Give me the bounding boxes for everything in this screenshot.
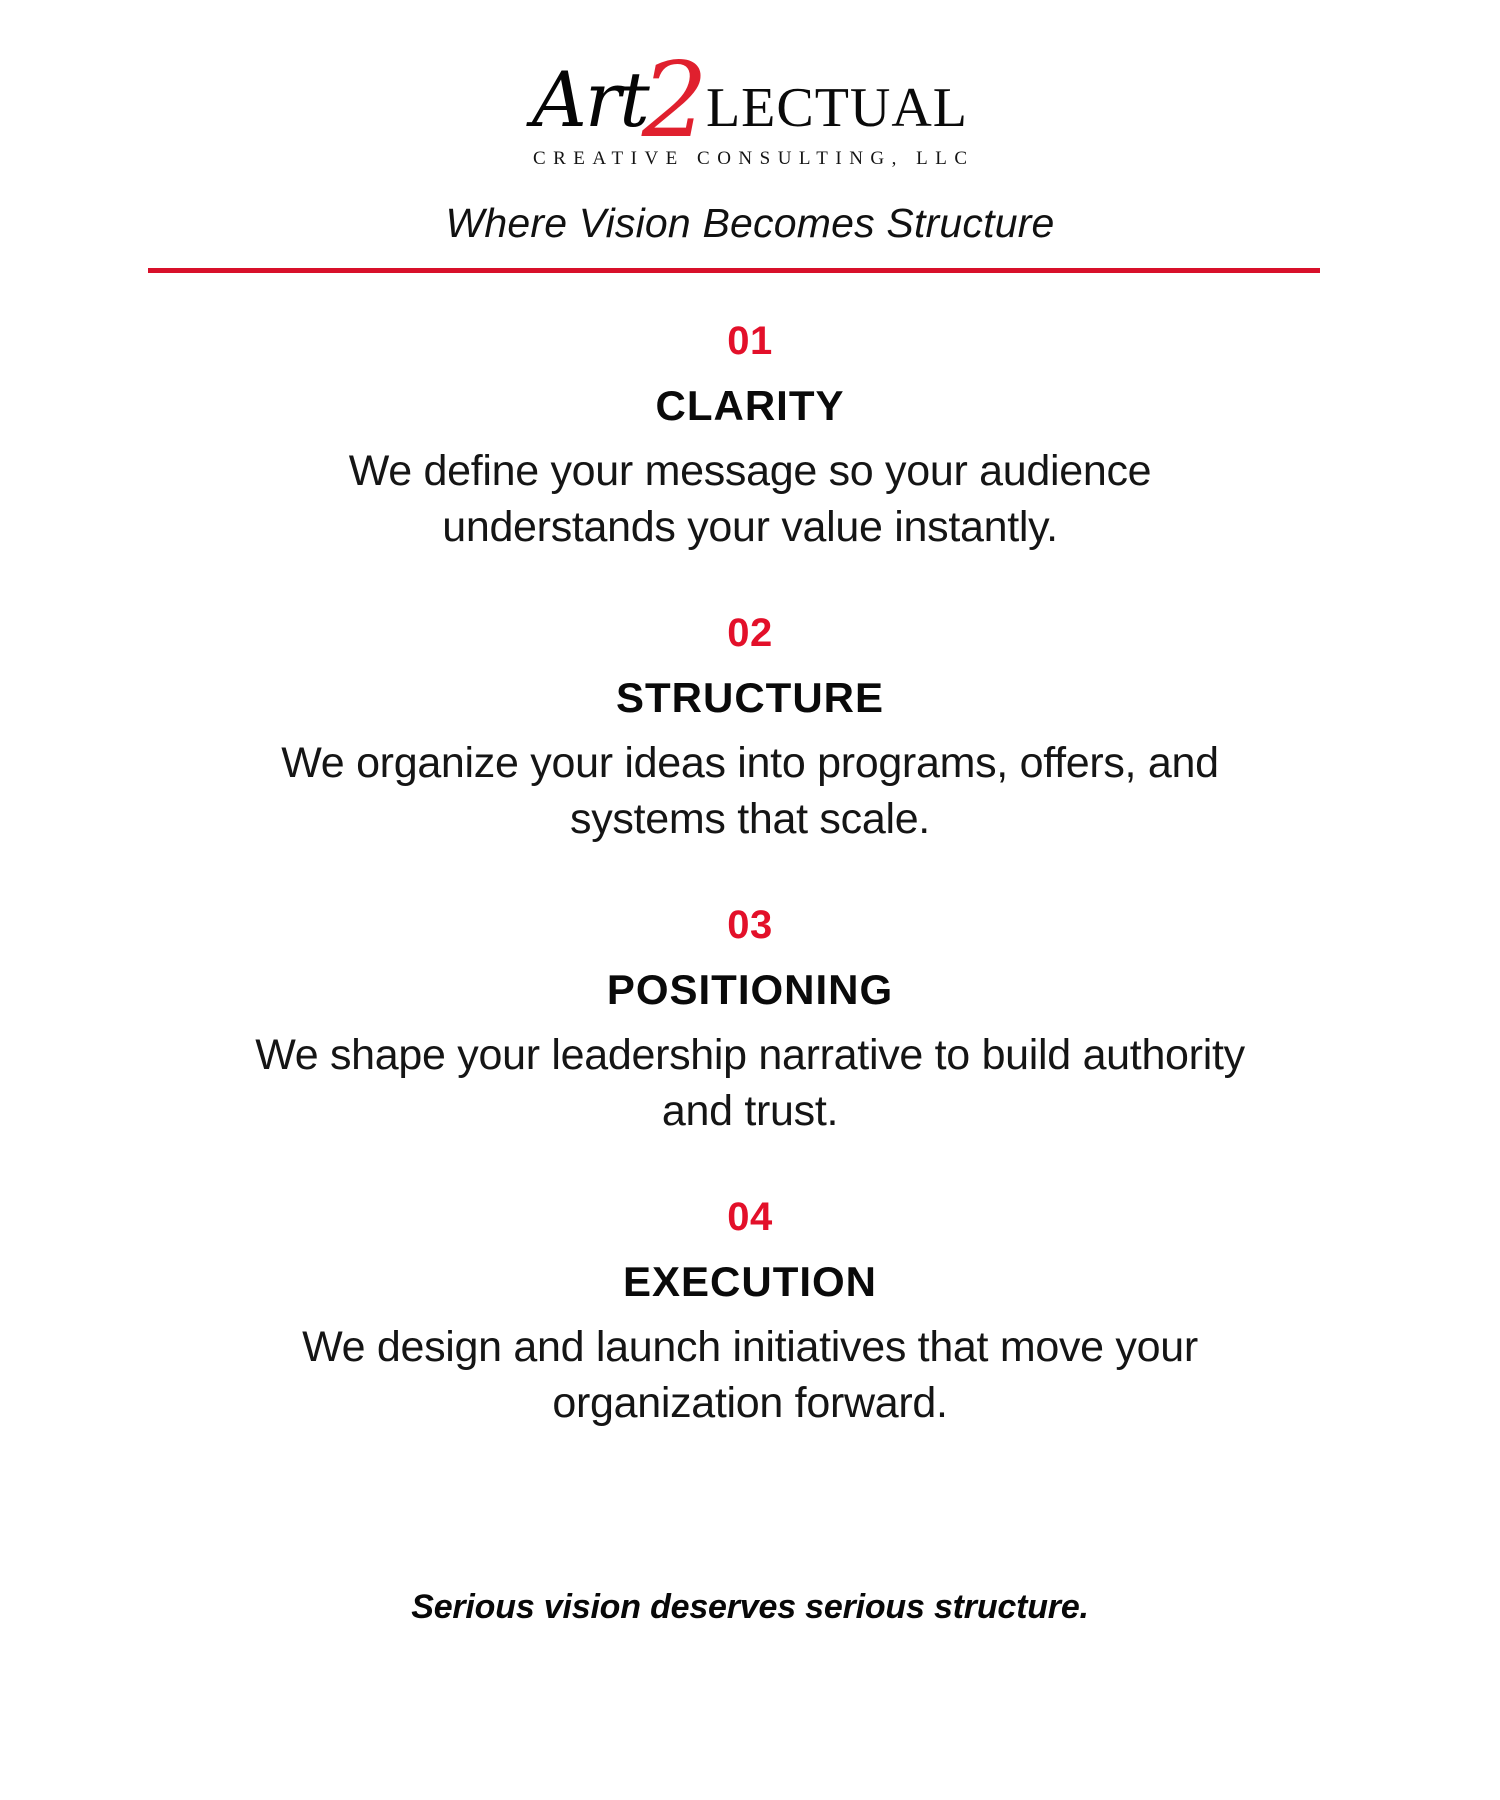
- step-description: We define your message so your audience …: [245, 444, 1255, 556]
- step-title: POSITIONING: [0, 968, 1500, 1012]
- page-canvas: Art2LECTUAL CREATIVE CONSULTING, LLC Whe…: [0, 0, 1500, 1800]
- step-description: We organize your ideas into programs, of…: [245, 736, 1255, 848]
- brand-tagline: Where Vision Becomes Structure: [0, 200, 1500, 247]
- closing-statement: Serious vision deserves serious structur…: [0, 1588, 1500, 1627]
- logo-accent-numeral: 2: [642, 39, 708, 161]
- brand-header: Art2LECTUAL CREATIVE CONSULTING, LLC Whe…: [0, 0, 1500, 247]
- closing-text: Serious vision deserves serious structur…: [411, 1588, 1089, 1626]
- step-title: CLARITY: [0, 384, 1500, 428]
- step-description: We shape your leadership narrative to bu…: [245, 1028, 1255, 1140]
- step-item: 03 POSITIONING We shape your leadership …: [0, 904, 1500, 1140]
- step-number: 03: [0, 904, 1500, 946]
- step-description: We design and launch initiatives that mo…: [245, 1320, 1255, 1432]
- step-title: EXECUTION: [0, 1260, 1500, 1304]
- step-number: 02: [0, 612, 1500, 654]
- step-title: STRUCTURE: [0, 676, 1500, 720]
- steps-list: 01 CLARITY We define your message so you…: [0, 320, 1500, 1488]
- step-number: 01: [0, 320, 1500, 362]
- step-item: 04 EXECUTION We design and launch initia…: [0, 1196, 1500, 1432]
- step-item: 02 STRUCTURE We organize your ideas into…: [0, 612, 1500, 848]
- logo-subtitle: CREATIVE CONSULTING, LLC: [0, 148, 1500, 170]
- step-item: 01 CLARITY We define your message so you…: [0, 320, 1500, 556]
- header-divider-rule: [148, 268, 1320, 273]
- step-number: 04: [0, 1196, 1500, 1238]
- logo-wordmark: Art2LECTUAL: [0, 44, 1500, 138]
- logo-script-text: Art: [532, 55, 648, 144]
- logo-rest-text: LECTUAL: [706, 77, 968, 139]
